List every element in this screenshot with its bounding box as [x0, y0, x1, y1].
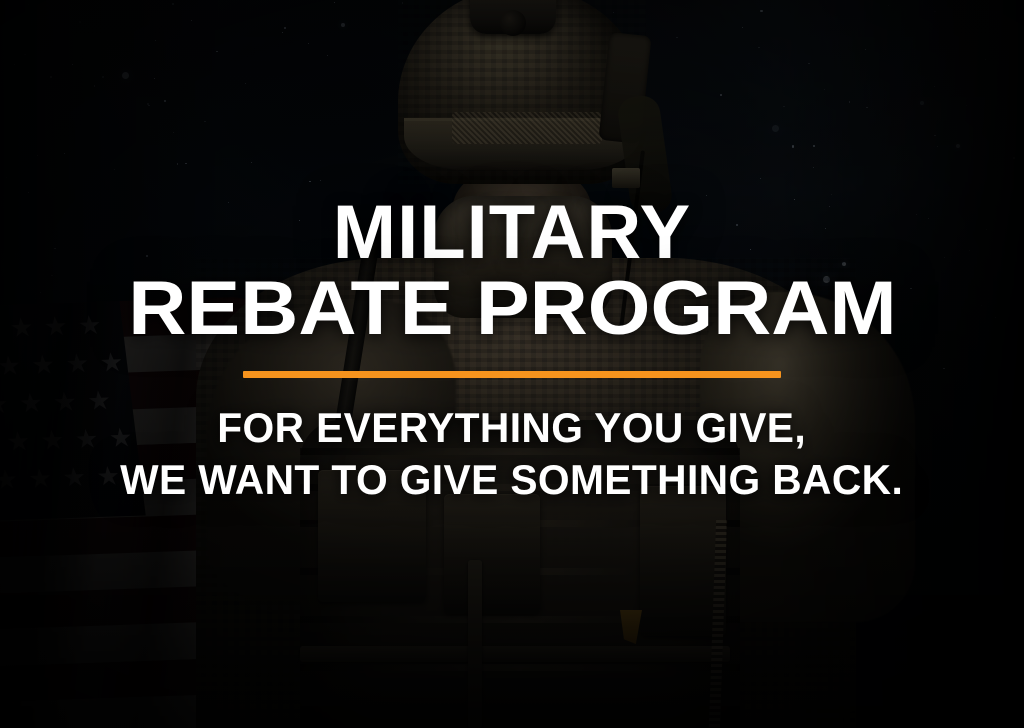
orange-divider	[243, 371, 781, 378]
headline-line-1: MILITARY	[333, 196, 691, 270]
subheadline: FOR EVERYTHING YOU GIVE, WE WANT TO GIVE…	[120, 402, 903, 504]
subheadline-line-1: FOR EVERYTHING YOU GIVE,	[120, 402, 903, 453]
subheadline-line-2: WE WANT TO GIVE SOMETHING BACK.	[120, 454, 903, 505]
military-rebate-program-banner: ★★★★★★★★★★★★★★★★★★★★★★★★★	[0, 0, 1024, 728]
headline-line-2: REBATE PROGRAM	[128, 272, 896, 346]
text-overlay: MILITARY REBATE PROGRAM FOR EVERYTHING Y…	[0, 0, 1024, 728]
